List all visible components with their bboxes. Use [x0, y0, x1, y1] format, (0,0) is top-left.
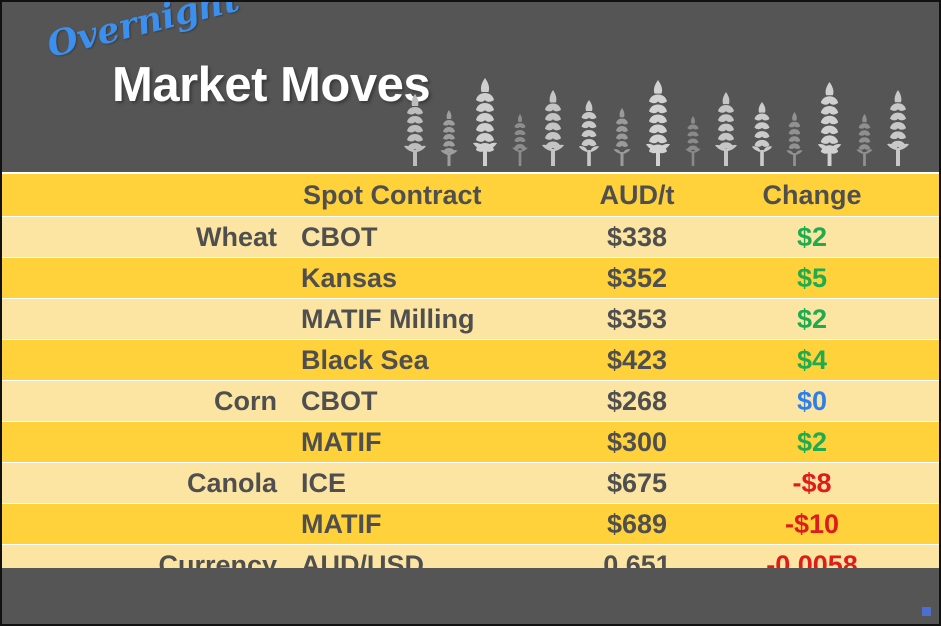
table-row: MATIF Milling $353 $2: [2, 299, 939, 339]
cell-price: $689: [557, 509, 717, 540]
table-header-row: Spot Contract AUD/t Change: [2, 174, 939, 216]
wheat-stalk-icon: [815, 82, 844, 166]
cell-group: Corn: [2, 386, 289, 417]
wheat-stalk-icon: [713, 92, 739, 166]
wheat-stalk-icon: [439, 110, 459, 166]
wheat-stalk-icon: [855, 114, 874, 166]
corner-mark-icon: [922, 607, 931, 616]
cell-change: -$10: [717, 509, 907, 540]
wheat-stalk-icon: [612, 108, 632, 166]
cell-price: $423: [557, 345, 717, 376]
cell-change: -$8: [717, 468, 907, 499]
overnight-market-moves-card: Overnight Market Moves Spot Contract A: [0, 0, 941, 626]
banner: Overnight Market Moves: [2, 2, 939, 172]
wheat-stalk-icon: [684, 116, 702, 166]
wheat-stalk-icon: [643, 80, 673, 166]
cell-change: $2: [717, 222, 907, 253]
footer-bar: [2, 568, 939, 624]
cell-contract: Black Sea: [289, 345, 557, 376]
cell-change: $2: [717, 304, 907, 335]
cell-price: $675: [557, 468, 717, 499]
cell-contract: Kansas: [289, 263, 557, 294]
cell-change: $4: [717, 345, 907, 376]
cell-group: Canola: [2, 468, 289, 499]
title-block: Overnight Market Moves: [50, 54, 430, 116]
column-header-price: AUD/t: [557, 180, 717, 211]
cell-contract: MATIF: [289, 509, 557, 540]
wheat-stalk-icon: [577, 100, 601, 166]
market-moves-table: Spot Contract AUD/t Change Wheat CBOT $3…: [2, 174, 939, 586]
wheat-stalk-icon: [750, 102, 774, 166]
cell-group: Wheat: [2, 222, 289, 253]
table-row: Wheat CBOT $338 $2: [2, 217, 939, 257]
table-row: Canola ICE $675 -$8: [2, 463, 939, 503]
wheat-decoration: [402, 66, 911, 166]
table-row: Black Sea $423 $4: [2, 340, 939, 380]
cell-contract: CBOT: [289, 386, 557, 417]
wheat-stalk-icon: [402, 94, 428, 166]
cell-price: $300: [557, 427, 717, 458]
cell-change: $2: [717, 427, 907, 458]
table-row: Kansas $352 $5: [2, 258, 939, 298]
cell-price: $353: [557, 304, 717, 335]
table-row: MATIF $300 $2: [2, 422, 939, 462]
cell-price: $338: [557, 222, 717, 253]
wheat-stalk-icon: [540, 90, 566, 166]
column-header-contract: Spot Contract: [289, 180, 557, 211]
page-title: Market Moves: [50, 54, 430, 116]
table-row: MATIF $689 -$10: [2, 504, 939, 544]
wheat-stalk-icon: [885, 90, 911, 166]
wheat-stalk-icon: [785, 112, 804, 166]
wheat-stalk-icon: [470, 78, 500, 166]
cell-change: $0: [717, 386, 907, 417]
cell-price: $268: [557, 386, 717, 417]
cell-change: $5: [717, 263, 907, 294]
cell-contract: CBOT: [289, 222, 557, 253]
cell-contract: ICE: [289, 468, 557, 499]
cell-contract: MATIF: [289, 427, 557, 458]
cell-contract: MATIF Milling: [289, 304, 557, 335]
wheat-stalk-icon: [511, 114, 529, 166]
column-header-change: Change: [717, 180, 907, 211]
table-row: Corn CBOT $268 $0: [2, 381, 939, 421]
cell-price: $352: [557, 263, 717, 294]
